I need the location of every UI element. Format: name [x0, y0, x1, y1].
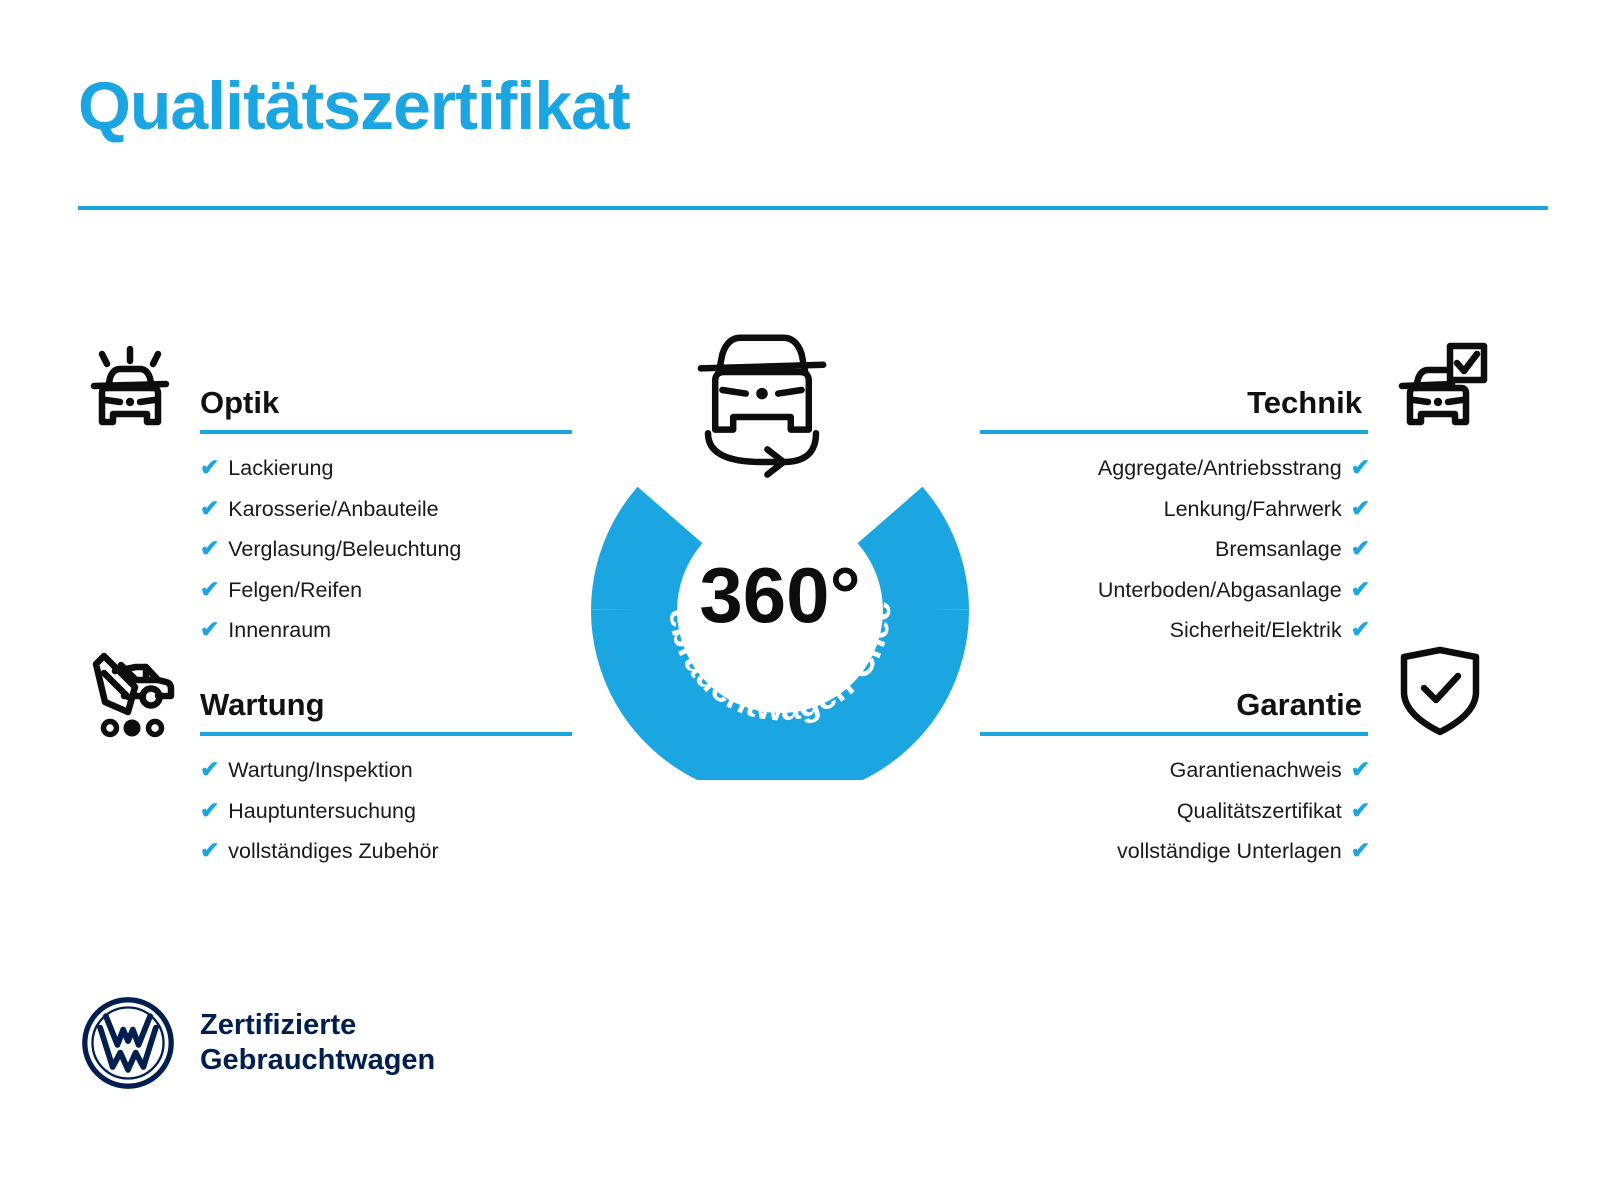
- list-item-label: Garantienachweis: [1170, 760, 1342, 782]
- list-item: Aggregate/Antriebsstrang✔: [980, 456, 1370, 480]
- list-item: Bremsanlage✔: [980, 537, 1370, 561]
- check-icon: ✔: [200, 758, 219, 781]
- list-item-label: Hauptuntersuchung: [228, 801, 416, 823]
- checklist-garantie: Garantienachweis✔ Qualitätszertifikat✔ v…: [980, 758, 1370, 863]
- list-item-label: Bremsanlage: [1215, 539, 1342, 561]
- section-title-optik: Optik: [200, 387, 590, 420]
- section-title-garantie: Garantie: [980, 689, 1370, 722]
- check-icon: ✔: [1351, 799, 1370, 822]
- checklist-technik: Aggregate/Antriebsstrang✔ Lenkung/Fahrwe…: [980, 456, 1370, 642]
- check-icon: ✔: [200, 537, 219, 560]
- list-item-label: Felgen/Reifen: [228, 580, 362, 602]
- list-item-label: Aggregate/Antriebsstrang: [1098, 458, 1342, 480]
- list-item-label: Wartung/Inspektion: [228, 760, 412, 782]
- vw-logo: [80, 995, 176, 1091]
- section-technik: Technik Aggr: [980, 336, 1492, 659]
- check-icon: ✔: [200, 456, 219, 479]
- check-icon: ✔: [200, 799, 219, 822]
- pencil-car-service-icon: [78, 638, 182, 742]
- footer: Zertifizierte Gebrauchtwagen: [80, 995, 435, 1091]
- check-icon: ✔: [200, 578, 219, 601]
- check-icon: ✔: [1351, 839, 1370, 862]
- footer-line-2: Gebrauchtwagen: [200, 1043, 435, 1078]
- footer-line-1: Zertifizierte: [200, 1008, 435, 1043]
- list-item: Garantienachweis✔: [980, 758, 1370, 782]
- section-title-wartung: Wartung: [200, 689, 590, 722]
- car-front-shine-icon: [78, 336, 182, 440]
- car-front-checkbox-icon: [1388, 336, 1492, 440]
- header-divider: [78, 206, 1548, 210]
- check-icon: ✔: [200, 839, 219, 862]
- section-wartung: Wartung ✔Wartung/Inspektion ✔Hauptunters…: [78, 638, 590, 880]
- list-item: ✔Verglasung/Beleuchtung: [200, 537, 590, 561]
- section-divider-technik: [980, 430, 1368, 434]
- shield-check-icon: [1388, 638, 1492, 742]
- list-item: Unterboden/Abgasanlage✔: [980, 578, 1370, 602]
- certificate-page: Qualitätszertifikat: [0, 0, 1600, 1200]
- footer-brand-text: Zertifizierte Gebrauchtwagen: [200, 1008, 435, 1079]
- section-divider-garantie: [980, 732, 1368, 736]
- list-item: ✔Felgen/Reifen: [200, 578, 590, 602]
- list-item: vollständige Unterlagen✔: [980, 839, 1370, 863]
- list-item: ✔Lackierung: [200, 456, 590, 480]
- list-item: Lenkung/Fahrwerk✔: [980, 497, 1370, 521]
- section-optik: Optik ✔Lackierung ✔Karosserie/Anbauteile…: [78, 336, 590, 659]
- section-divider-optik: [200, 430, 572, 434]
- check-icon: ✔: [1351, 537, 1370, 560]
- check-icon: ✔: [1351, 578, 1370, 601]
- list-item-label: Unterboden/Abgasanlage: [1098, 580, 1342, 602]
- list-item: ✔Hauptuntersuchung: [200, 799, 590, 823]
- car-front-rotate-icon: [701, 338, 823, 475]
- list-item-label: vollständiges Zubehör: [228, 841, 438, 863]
- page-title: Qualitätszertifikat: [78, 72, 630, 140]
- check-icon: ✔: [1351, 758, 1370, 781]
- list-item: ✔Wartung/Inspektion: [200, 758, 590, 782]
- check-icon: ✔: [1351, 456, 1370, 479]
- 360-check-badge: Gebrauchtwagen-Check 360°: [560, 300, 1000, 780]
- list-item: Qualitätszertifikat✔: [980, 799, 1370, 823]
- checklist-wartung: ✔Wartung/Inspektion ✔Hauptuntersuchung ✔…: [200, 758, 590, 863]
- section-garantie: Garantie Garantienachweis✔ Qualitätszert…: [980, 638, 1492, 880]
- check-icon: ✔: [1351, 497, 1370, 520]
- list-item: ✔vollständiges Zubehör: [200, 839, 590, 863]
- list-item-label: vollständige Unterlagen: [1117, 841, 1342, 863]
- checklist-optik: ✔Lackierung ✔Karosserie/Anbauteile ✔Verg…: [200, 456, 590, 642]
- check-icon: ✔: [200, 497, 219, 520]
- section-divider-wartung: [200, 732, 572, 736]
- list-item-label: Karosserie/Anbauteile: [228, 499, 438, 521]
- section-title-technik: Technik: [980, 387, 1370, 420]
- list-item-label: Lackierung: [228, 458, 333, 480]
- list-item-label: Verglasung/Beleuchtung: [228, 539, 461, 561]
- badge-center-value: 360°: [699, 551, 860, 639]
- list-item-label: Qualitätszertifikat: [1177, 801, 1342, 823]
- list-item-label: Lenkung/Fahrwerk: [1164, 499, 1342, 521]
- list-item: ✔Karosserie/Anbauteile: [200, 497, 590, 521]
